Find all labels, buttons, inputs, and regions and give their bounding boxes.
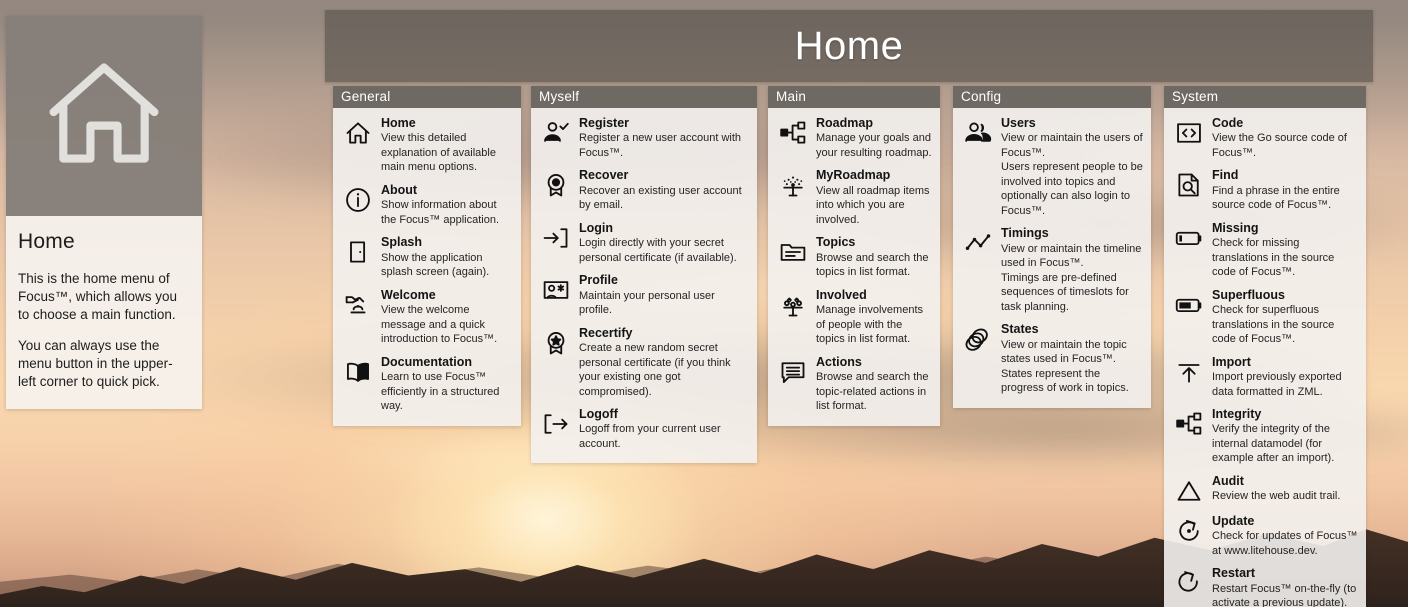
menu-item-title: Logoff [579,407,749,421]
menu-item-title: Home [381,116,513,130]
menu-item-restart[interactable]: RestartRestart Focus™ on-the-fly (to act… [1170,562,1360,607]
menu-item-code[interactable]: CodeView the Go source code of Focus™. [1170,112,1360,164]
menu-item-text: RecertifyCreate a new random secret pers… [579,326,749,399]
menu-item-home[interactable]: HomeView this detailed explanation of av… [339,112,515,179]
menu-item-text: SplashShow the application splash screen… [381,235,513,279]
menu-column-header-config: Config [953,86,1151,108]
menu-item-title: Documentation [381,355,513,369]
menu-list-myself: RegisterRegister a new user account with… [531,108,757,463]
menu-column-header-myself: Myself [531,86,757,108]
menu-item-text: StatesView or maintain the topic states … [1001,322,1143,395]
menu-item-description: Import previously exported data formatte… [1212,370,1358,399]
menu-item-actions[interactable]: ActionsBrowse and search the topic-relat… [774,351,934,418]
header-title: Home [795,24,904,69]
line-chart-icon [963,228,993,258]
menu-column-header-main: Main [768,86,940,108]
menu-item-description: View the Go source code of Focus™. [1212,131,1358,160]
menu-item-text: HomeView this detailed explanation of av… [381,116,513,175]
menu-item-description: Login directly with your secret personal… [579,236,749,265]
menu-item-text: ActionsBrowse and search the topic-relat… [816,355,932,414]
menu-item-text: MissingCheck for missing translations in… [1212,221,1358,280]
menu-item-text: LoginLogin directly with your secret per… [579,221,749,265]
battery-full-icon [1174,290,1204,320]
menu-item-description: Verify the integrity of the internal dat… [1212,422,1358,466]
menu-item-profile[interactable]: ProfileMaintain your personal user profi… [537,269,751,321]
menu-item-title: Topics [816,235,932,249]
menu-item-description: Show information about the Focus™ applic… [381,198,513,227]
menu-item-title: Login [579,221,749,235]
menu-item-title: Roadmap [816,116,932,130]
menu-item-title: Update [1212,514,1358,528]
page-title: Home [18,230,190,254]
menu-item-text: RestartRestart Focus™ on-the-fly (to act… [1212,566,1358,607]
menu-item-description: Learn to use Focus™ efficiently in a str… [381,370,513,414]
menu-item-users[interactable]: UsersView or maintain the users of Focus… [959,112,1145,222]
menu-item-description: Browse and search the topics in list for… [816,251,932,280]
app-header-bar: Home [325,10,1373,82]
code-brackets-icon [1174,118,1204,148]
hand-bell-icon [343,290,373,320]
menu-item-text: RoadmapManage your goals and your result… [816,116,932,160]
menu-item-text: WelcomeView the welcome message and a qu… [381,288,513,347]
folder-lines-icon [778,237,808,267]
file-search-icon [1174,170,1204,200]
menu-item-logoff[interactable]: LogoffLogoff from your current user acco… [537,403,751,455]
menu-column-main: MainRoadmapManage your goals and your re… [768,86,940,426]
home-outline-icon [42,52,166,181]
menu-item-timings[interactable]: TimingsView or maintain the timeline use… [959,222,1145,318]
menu-item-title: Audit [1212,474,1358,488]
menu-item-text: ProfileMaintain your personal user profi… [579,273,749,317]
info-circle-icon [343,185,373,215]
menu-item-title: Recover [579,168,749,182]
menu-item-description: Review the web audit trail. [1212,489,1358,504]
menu-item-title: Welcome [381,288,513,302]
menu-item-login[interactable]: LoginLogin directly with your secret per… [537,217,751,269]
menu-item-description: Browse and search the topic-related acti… [816,370,932,414]
menu-item-roadmap[interactable]: RoadmapManage your goals and your result… [774,112,934,164]
menu-item-text: AboutShow information about the Focus™ a… [381,183,513,227]
menu-item-description: Manage involvements of people with the t… [816,303,932,347]
menu-item-text: RecoverRecover an existing user account … [579,168,749,212]
home-icon [343,118,373,148]
menu-item-text: FindFind a phrase in the entire source c… [1212,168,1358,212]
menu-list-general: HomeView this detailed explanation of av… [333,108,521,426]
menu-item-description: Restart Focus™ on-the-fly (to activate a… [1212,582,1358,607]
menu-item-register[interactable]: RegisterRegister a new user account with… [537,112,751,164]
menu-item-text: MyRoadmapView all roadmap items into whi… [816,168,932,227]
menu-item-title: Missing [1212,221,1358,235]
sidebar-paragraph-1: This is the home menu of Focus™, which a… [18,270,190,323]
menu-item-title: MyRoadmap [816,168,932,182]
login-arrow-icon [541,223,571,253]
menu-item-text: LogoffLogoff from your current user acco… [579,407,749,451]
menu-column-system: SystemCodeView the Go source code of Foc… [1164,86,1366,607]
menu-item-recover[interactable]: RecoverRecover an existing user account … [537,164,751,216]
menu-item-text: DocumentationLearn to use Focus™ efficie… [381,355,513,414]
users-icon [963,118,993,148]
menu-item-title: Find [1212,168,1358,182]
menu-item-description: View or maintain the users of Focus™.Use… [1001,131,1143,218]
menu-item-text: SuperfluousCheck for superfluous transla… [1212,288,1358,347]
menu-item-text: RegisterRegister a new user account with… [579,116,749,160]
menu-item-description: View or maintain the topic states used i… [1001,338,1143,396]
menu-item-text: AuditReview the web audit trail. [1212,474,1358,504]
door-icon [343,237,373,267]
menu-item-title: States [1001,322,1143,336]
user-check-icon [541,118,571,148]
menu-item-title: Code [1212,116,1358,130]
menu-item-states[interactable]: StatesView or maintain the topic states … [959,318,1145,399]
involvement-icon [778,290,808,320]
restart-arrow-icon [1174,568,1204,598]
home-info-card: Home This is the home menu of Focus™, wh… [6,16,202,409]
menu-item-description: Register a new user account with Focus™. [579,131,749,160]
menu-item-title: Import [1212,355,1358,369]
menu-item-text: UsersView or maintain the users of Focus… [1001,116,1143,218]
triangle-icon [1174,476,1204,506]
menu-item-title: Users [1001,116,1143,130]
menu-item-text: IntegrityVerify the integrity of the int… [1212,407,1358,466]
import-arrow-icon [1174,357,1204,387]
menu-item-title: Superfluous [1212,288,1358,302]
menu-column-myself: MyselfRegisterRegister a new user accoun… [531,86,757,463]
badge-dot-icon [541,170,571,200]
menu-item-title: About [381,183,513,197]
home-hero [6,16,202,216]
coins-icon [963,324,993,354]
battery-empty-icon [1174,223,1204,253]
menu-item-topics[interactable]: TopicsBrowse and search the topics in li… [774,231,934,283]
menu-item-description: Manage your goals and your resulting roa… [816,131,932,160]
menu-item-title: Splash [381,235,513,249]
menu-item-about[interactable]: AboutShow information about the Focus™ a… [339,179,515,231]
menu-item-audit[interactable]: AuditReview the web audit trail. [1170,470,1360,510]
menu-item-find[interactable]: FindFind a phrase in the entire source c… [1170,164,1360,216]
menu-item-recertify[interactable]: RecertifyCreate a new random secret pers… [537,322,751,403]
menu-item-involved[interactable]: InvolvedManage involvements of people wi… [774,284,934,351]
menu-item-description: Check for superfluous translations in th… [1212,303,1358,347]
open-book-icon [343,357,373,387]
menu-column-general: GeneralHomeView this detailed explanatio… [333,86,521,426]
menu-item-text: UpdateCheck for updates of Focus™ at www… [1212,514,1358,558]
menu-column-header-system: System [1164,86,1366,108]
menu-item-title: Recertify [579,326,749,340]
menu-item-title: Profile [579,273,749,287]
menu-item-description: View all roadmap items into which you ar… [816,184,932,228]
dandelion-icon [778,170,808,200]
menu-item-description: Find a phrase in the entire source code … [1212,184,1358,213]
menu-item-description: Show the application splash screen (agai… [381,251,513,280]
sitemap-icon [1174,409,1204,439]
menu-item-title: Integrity [1212,407,1358,421]
menu-item-text: TopicsBrowse and search the topics in li… [816,235,932,279]
menu-item-myroadmap[interactable]: MyRoadmapView all roadmap items into whi… [774,164,934,231]
menu-item-title: Involved [816,288,932,302]
badge-star-icon [541,328,571,358]
sidebar-paragraph-2: You can always use the menu button in th… [18,337,190,390]
menu-item-description: View or maintain the timeline used in Fo… [1001,242,1143,315]
logout-arrow-icon [541,409,571,439]
menu-item-documentation[interactable]: DocumentationLearn to use Focus™ efficie… [339,351,515,418]
menu-item-welcome[interactable]: WelcomeView the welcome message and a qu… [339,284,515,351]
menu-item-text: TimingsView or maintain the timeline use… [1001,226,1143,314]
menu-list-main: RoadmapManage your goals and your result… [768,108,940,426]
menu-item-import[interactable]: ImportImport previously exported data fo… [1170,351,1360,403]
sitemap-icon [778,118,808,148]
menu-list-config: UsersView or maintain the users of Focus… [953,108,1151,408]
menu-column-config: ConfigUsersView or maintain the users of… [953,86,1151,408]
profile-card-icon [541,275,571,305]
menu-item-description: Logoff from your current user account. [579,422,749,451]
menu-item-splash[interactable]: SplashShow the application splash screen… [339,231,515,283]
menu-item-title: Timings [1001,226,1143,240]
menu-item-text: InvolvedManage involvements of people wi… [816,288,932,347]
menu-item-description: Check for missing translations in the so… [1212,236,1358,280]
menu-item-integrity[interactable]: IntegrityVerify the integrity of the int… [1170,403,1360,470]
menu-item-superfluous[interactable]: SuperfluousCheck for superfluous transla… [1170,284,1360,351]
menu-item-description: Create a new random secret personal cert… [579,341,749,399]
menu-item-description: View this detailed explanation of availa… [381,131,513,175]
menu-item-description: Recover an existing user account by emai… [579,184,749,213]
menu-item-text: CodeView the Go source code of Focus™. [1212,116,1358,160]
menu-item-description: Maintain your personal user profile. [579,289,749,318]
menu-item-title: Register [579,116,749,130]
refresh-dot-icon [1174,516,1204,546]
menu-item-text: ImportImport previously exported data fo… [1212,355,1358,399]
menu-item-description: Check for updates of Focus™ at www.liteh… [1212,529,1358,558]
menu-item-missing[interactable]: MissingCheck for missing translations in… [1170,217,1360,284]
comment-lines-icon [778,357,808,387]
menu-list-system: CodeView the Go source code of Focus™.Fi… [1164,108,1366,607]
menu-item-description: View the welcome message and a quick int… [381,303,513,347]
menu-item-title: Actions [816,355,932,369]
menu-column-header-general: General [333,86,521,108]
menu-item-update[interactable]: UpdateCheck for updates of Focus™ at www… [1170,510,1360,562]
menu-item-title: Restart [1212,566,1358,580]
